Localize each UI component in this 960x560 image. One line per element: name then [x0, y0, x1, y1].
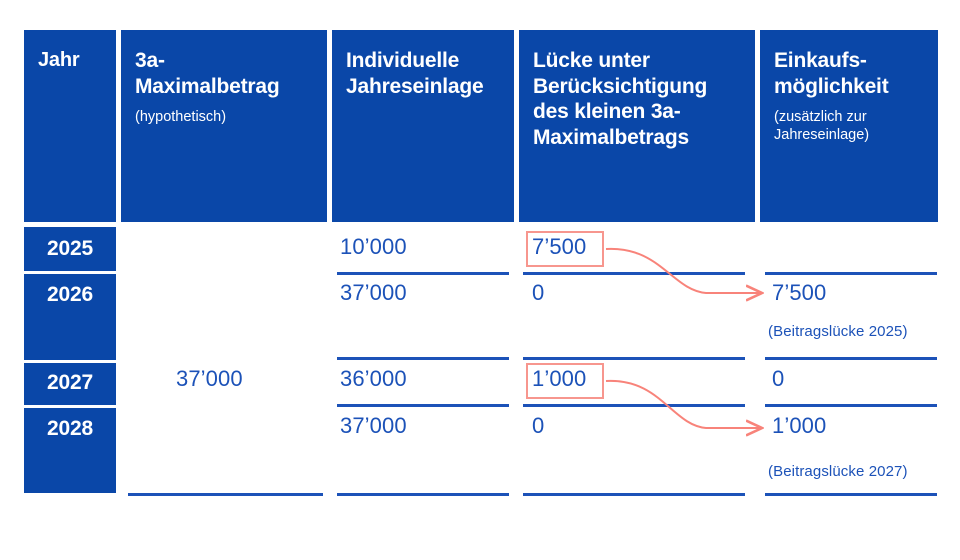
rule-luecke-2027 — [523, 404, 745, 407]
cell-luecke-2027: 1’000 — [532, 366, 586, 392]
year-separator — [24, 360, 116, 363]
cell-luecke-2025: 7’500 — [532, 234, 586, 260]
cell-jahreseinlage-2028: 37’000 — [340, 413, 407, 439]
cell-einkauf-note-2028: (Beitragslücke 2027) — [768, 463, 908, 480]
cell-luecke-2028: 0 — [532, 413, 544, 439]
cell-einkauf-2028: 1’000 — [772, 413, 826, 439]
cell-einkauf-note-2026: (Beitragslücke 2025) — [768, 323, 908, 340]
year-label-2026: 2026 — [24, 283, 116, 307]
rule-jahreseinlage-2025 — [337, 272, 509, 275]
pension-gap-table: Jahr 3a- Maximalbetrag (hypothetisch) In… — [0, 0, 960, 560]
rule-maximalbetrag-bottom — [128, 493, 323, 496]
header-title-einkaufsmoeglichkeit: Einkaufs- möglichkeit — [774, 48, 924, 99]
header-cell-einkaufsmoeglichkeit: Einkaufs- möglichkeit (zusätzlich zur Ja… — [760, 30, 938, 222]
carry-over-arrow-2025-to-2026 — [606, 249, 760, 293]
rule-luecke-2025 — [523, 272, 745, 275]
cell-jahreseinlage-2027: 36’000 — [340, 366, 407, 392]
year-column-block: 2025 2026 2027 2028 — [24, 227, 116, 493]
cell-luecke-2026: 0 — [532, 280, 544, 306]
year-separator — [24, 405, 116, 408]
cell-jahreseinlage-2026: 37’000 — [340, 280, 407, 306]
header-title-jahr: Jahr — [38, 48, 102, 72]
cell-einkauf-2026: 7’500 — [772, 280, 826, 306]
header-cell-maximalbetrag: 3a- Maximalbetrag (hypothetisch) — [121, 30, 327, 222]
rule-luecke-2026 — [523, 357, 745, 360]
header-cell-luecke: Lücke unter Berücksichtigung des kleinen… — [519, 30, 755, 222]
rule-jahreseinlage-2026 — [337, 357, 509, 360]
cell-einkauf-2027: 0 — [772, 366, 784, 392]
header-sub-einkaufsmoeglichkeit: (zusätzlich zur Jahreseinlage) — [774, 108, 924, 144]
header-cell-jahreseinlage: Individuelle Jahreseinlage — [332, 30, 514, 222]
rule-jahreseinlage-2028 — [337, 493, 509, 496]
cell-jahreseinlage-2025: 10’000 — [340, 234, 407, 260]
rule-einkauf-2027 — [765, 404, 937, 407]
rule-einkauf-2026 — [765, 357, 937, 360]
rule-einkauf-2028 — [765, 493, 937, 496]
cell-maximalbetrag-span: 37’000 — [176, 366, 243, 392]
year-label-2027: 2027 — [24, 371, 116, 395]
year-label-2028: 2028 — [24, 417, 116, 441]
rule-jahreseinlage-2027 — [337, 404, 509, 407]
rule-einkauf-2025 — [765, 272, 937, 275]
year-label-2025: 2025 — [24, 237, 116, 261]
rule-luecke-2028 — [523, 493, 745, 496]
header-title-luecke: Lücke unter Berücksichtigung des kleinen… — [533, 48, 741, 150]
header-title-jahreseinlage: Individuelle Jahreseinlage — [346, 48, 500, 99]
header-cell-jahr: Jahr — [24, 30, 116, 222]
header-sub-maximalbetrag: (hypothetisch) — [135, 108, 313, 126]
header-title-maximalbetrag: 3a- Maximalbetrag — [135, 48, 313, 99]
year-separator — [24, 271, 116, 274]
